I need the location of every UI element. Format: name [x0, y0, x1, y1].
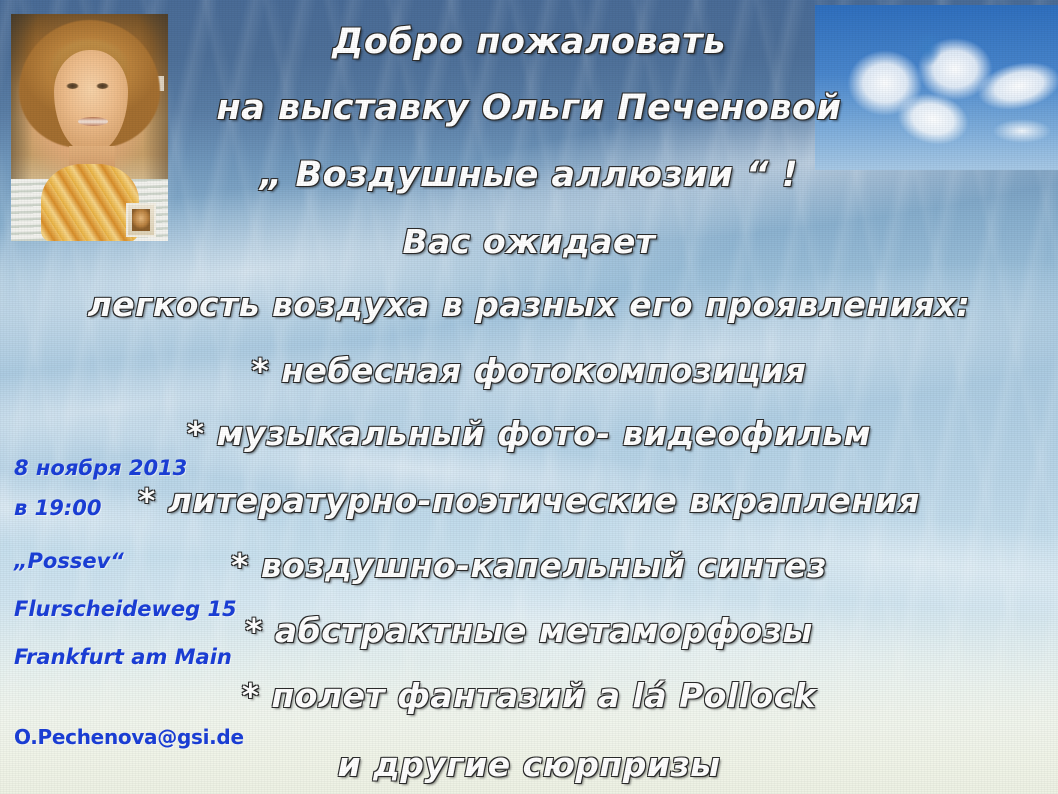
lead-line-2: легкость воздуха в разных его проявления…: [0, 285, 1058, 324]
bullet-item-2: * музыкальный фото- видеофильм: [0, 414, 1058, 453]
venue-city: Frankfurt am Main: [14, 645, 232, 669]
bullet-item-6: * полет фантазий a lá Pollock: [0, 676, 1058, 715]
contact-email[interactable]: O.Pechenova@gsi.de: [14, 725, 244, 749]
bullet-item-7-closing: и другие сюрпризы: [0, 745, 1058, 784]
event-time: в 19:00: [14, 496, 101, 520]
lead-line-1: Вас ожидает: [0, 222, 1058, 261]
poster-canvas: Добро пожаловать на выставку Ольги Печен…: [0, 0, 1058, 794]
bullet-item-1: * небесная фотокомпозиция: [0, 351, 1058, 390]
headline-line-1: Добро пожаловать: [0, 22, 1058, 62]
headline-line-3-exhibition-name: „ Воздушные аллюзии “ !: [0, 155, 1058, 195]
bullet-item-4: * воздушно-капельный синтез: [0, 546, 1058, 585]
event-date: 8 ноября 2013: [14, 456, 187, 480]
venue-name: „Possev“: [14, 549, 124, 573]
venue-street: Flurscheideweg 15: [14, 597, 237, 621]
bullet-item-3: * литературно-поэтические вкрапления: [0, 481, 1058, 520]
headline-line-2: на выставку Ольги Печеновой: [0, 88, 1058, 128]
